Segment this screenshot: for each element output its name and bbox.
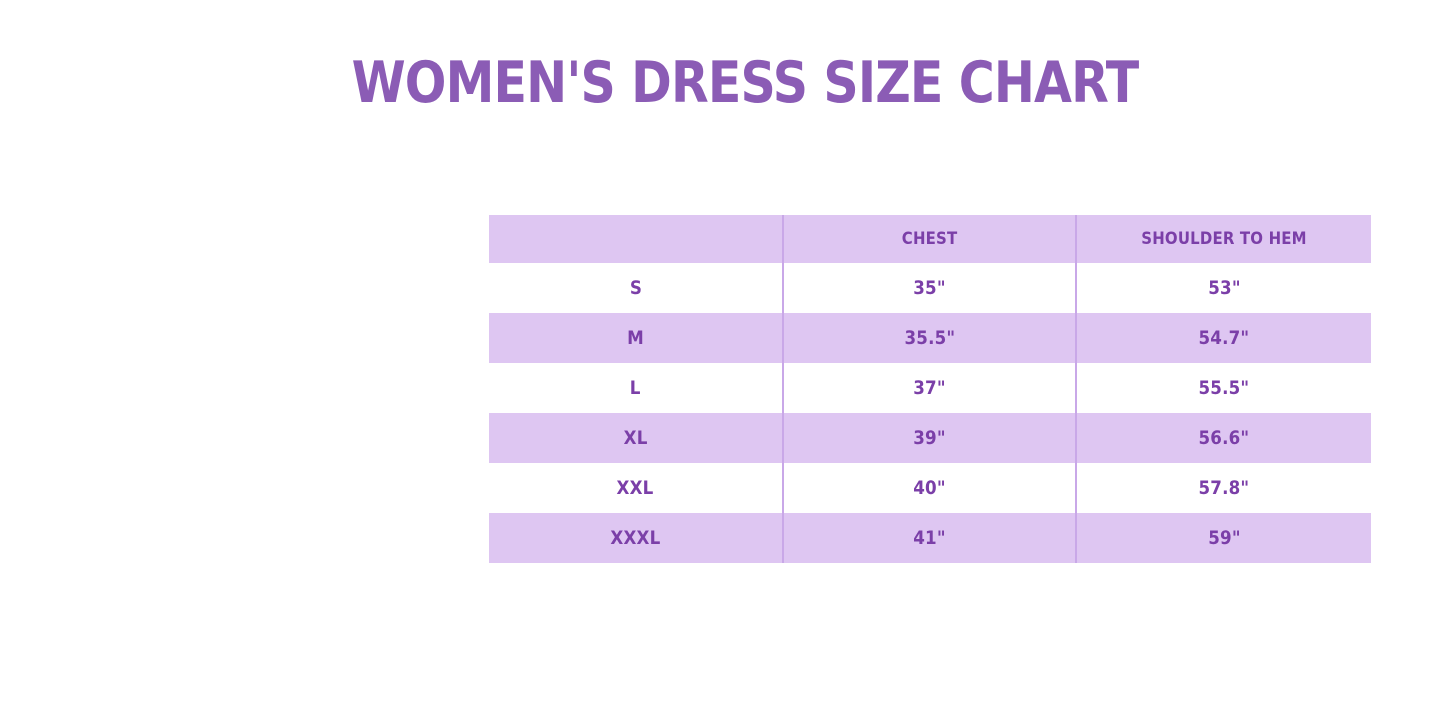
cell-size: XXL xyxy=(489,463,783,513)
cell-shoulder-to-hem: 54.7" xyxy=(1076,313,1371,363)
cell-shoulder-to-hem: 57.8" xyxy=(1076,463,1371,513)
column-header-chest: CHEST xyxy=(783,215,1076,263)
cell-size: XXXL xyxy=(489,513,783,563)
table-body: S 35" 53" M 35.5" 54.7" L 37" 55.5" XL 3… xyxy=(489,263,1371,563)
table-row: XL 39" 56.6" xyxy=(489,413,1371,463)
table-header: CHEST SHOULDER TO HEM xyxy=(489,215,1371,263)
cell-chest: 41" xyxy=(783,513,1076,563)
column-header-size xyxy=(489,215,783,263)
column-header-shoulder-to-hem: SHOULDER TO HEM xyxy=(1076,215,1371,263)
cell-size: M xyxy=(489,313,783,363)
table-row: XXXL 41" 59" xyxy=(489,513,1371,563)
cell-shoulder-to-hem: 55.5" xyxy=(1076,363,1371,413)
table-row: S 35" 53" xyxy=(489,263,1371,313)
cell-chest: 35" xyxy=(783,263,1076,313)
table-header-row: CHEST SHOULDER TO HEM xyxy=(489,215,1371,263)
table-row: M 35.5" 54.7" xyxy=(489,313,1371,363)
cell-shoulder-to-hem: 53" xyxy=(1076,263,1371,313)
table-row: L 37" 55.5" xyxy=(489,363,1371,413)
size-chart-table: CHEST SHOULDER TO HEM S 35" 53" M 35.5" … xyxy=(489,215,1371,563)
cell-size: S xyxy=(489,263,783,313)
cell-chest: 40" xyxy=(783,463,1076,513)
cell-chest: 37" xyxy=(783,363,1076,413)
cell-chest: 35.5" xyxy=(783,313,1076,363)
size-chart-page: WOMEN'S DRESS SIZE CHART CHEST SHOULDER … xyxy=(0,0,1445,723)
cell-shoulder-to-hem: 56.6" xyxy=(1076,413,1371,463)
cell-shoulder-to-hem: 59" xyxy=(1076,513,1371,563)
cell-chest: 39" xyxy=(783,413,1076,463)
cell-size: XL xyxy=(489,413,783,463)
table-row: XXL 40" 57.8" xyxy=(489,463,1371,513)
page-title: WOMEN'S DRESS SIZE CHART xyxy=(124,52,1367,115)
cell-size: L xyxy=(489,363,783,413)
